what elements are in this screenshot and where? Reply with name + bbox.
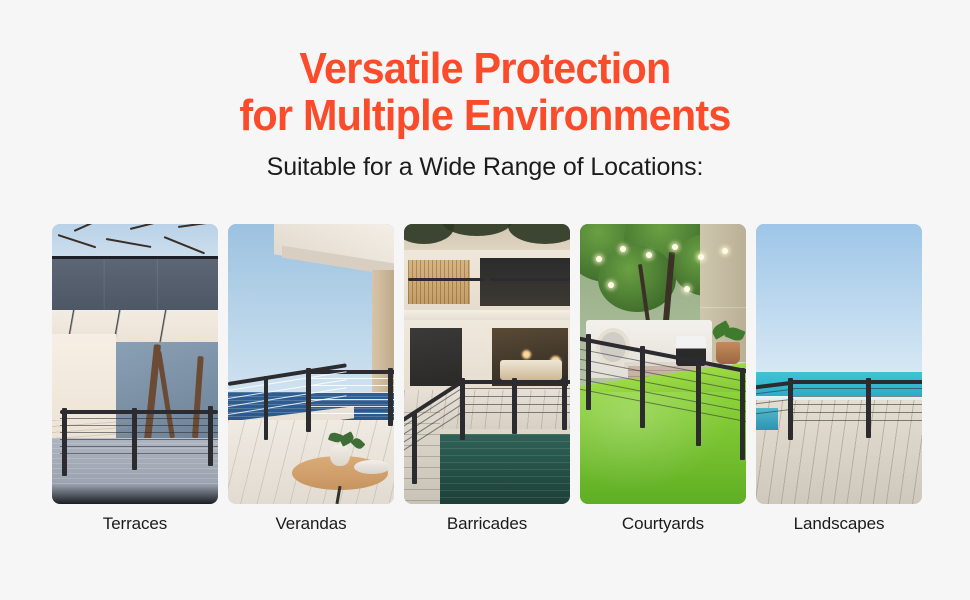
railing-post [562,376,567,430]
caption-courtyards: Courtyards [580,514,746,534]
terracotta-pot [716,342,740,364]
railing-post [412,412,417,484]
railing-top-rail [60,410,218,414]
railing-cable [788,420,922,421]
railing-post [460,378,465,440]
headline-block: Versatile Protection for Multiple Enviro… [0,0,970,182]
terrace-underside [52,484,218,504]
location-card-landscapes[interactable] [756,224,922,504]
caption-terraces: Terraces [52,514,218,534]
caption-barricades: Barricades [404,514,570,534]
sliding-door-left [410,328,462,386]
location-card-courtyards[interactable] [580,224,746,504]
upper-balcony-left [408,260,470,304]
terrace-scene-image [52,224,218,504]
sky-region [756,224,922,374]
balcony-rail [490,278,570,281]
railing-post [388,368,393,426]
upper-balcony-right [480,258,570,306]
string-light [722,248,728,254]
railing-post [208,406,213,466]
page-title: Versatile Protection for Multiple Enviro… [29,46,941,139]
railing-cable [788,404,922,405]
railing-cable [788,388,922,389]
headline-line-1: Versatile Protection [299,44,670,93]
railing-post [512,378,517,434]
location-card-row [52,224,910,504]
railing-post [586,334,591,410]
balcony-rail [408,278,484,281]
railing-post [866,378,871,438]
caption-verandas: Verandas [228,514,394,534]
railing-cable [306,385,394,386]
railing-cable [60,425,218,426]
entry-steps [404,412,440,504]
railing-cable [306,399,394,400]
location-card-barricades[interactable] [404,224,570,504]
veranda-scene-image [228,224,394,504]
swimming-pool [426,434,570,504]
landscape-scene-image [756,224,922,504]
railing-cable [306,413,394,414]
railing-post [696,358,701,446]
railing-cable [788,396,922,397]
subtitle: Suitable for a Wide Range of Locations: [0,153,970,182]
string-light [608,282,614,288]
string-light [698,254,704,260]
railing-post [306,368,311,432]
composite-deck [756,400,922,504]
railing-cable [306,378,394,379]
railing-cable [306,392,394,393]
interior-lamp [522,350,531,359]
location-card-terraces[interactable] [52,224,218,504]
railing-cable [60,418,218,419]
railing-top-rail [788,380,922,384]
string-light [620,246,626,252]
railing-cable [60,439,218,440]
string-light [672,244,678,250]
railing-cable [60,446,218,447]
facade-panels [52,256,218,310]
lounge-sofa [500,360,562,380]
headline-line-2: for Multiple Environments [29,93,941,140]
railing-cable [306,406,394,407]
railing-post [740,368,745,460]
courtyard-scene-image [580,224,746,504]
barricade-scene-image [404,224,570,504]
promo-banner: Versatile Protection for Multiple Enviro… [0,0,970,600]
railing-cable [60,453,218,454]
railing-post [788,378,793,440]
string-light [596,256,602,262]
railing-cable [788,412,922,413]
location-card-verandas[interactable] [228,224,394,504]
railing-cable [60,432,218,433]
caption-row: Terraces Verandas Barricades Courtyards … [52,514,910,534]
railing-post [132,408,137,470]
railing-post [264,376,268,440]
railing-top-rail [306,370,394,374]
railing-post [62,408,67,476]
railing-post [640,346,645,428]
string-light [646,252,652,258]
vase [330,444,350,466]
lawn-region [580,392,746,504]
serving-bowl [354,460,390,474]
caption-landscapes: Landscapes [756,514,922,534]
string-light [684,286,690,292]
